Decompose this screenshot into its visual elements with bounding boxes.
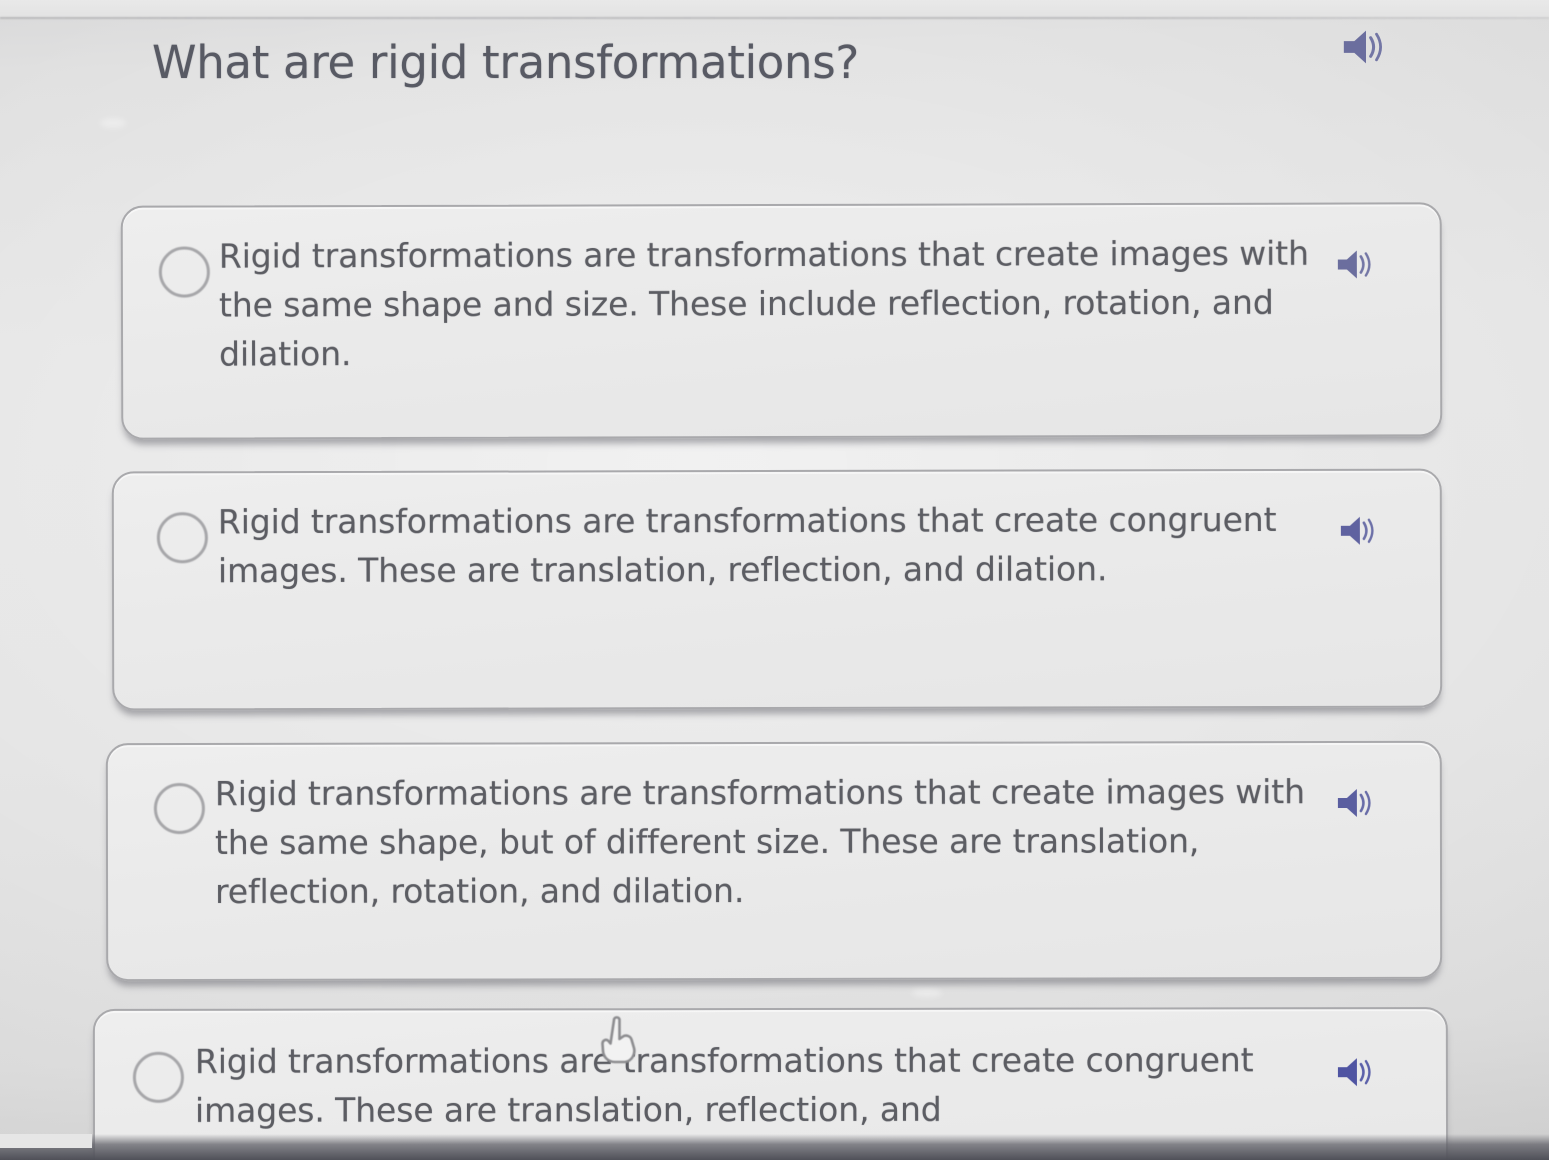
top-seam-line [0, 17, 1549, 19]
radio-button-option-d[interactable] [133, 1052, 184, 1103]
radio-button-option-c[interactable] [154, 783, 205, 834]
speaker-icon[interactable] [1335, 246, 1379, 282]
hand-pointer-cursor [592, 1012, 648, 1070]
radio-button-option-b[interactable] [157, 512, 208, 563]
question-audio-button[interactable] [1340, 26, 1392, 68]
speaker-icon[interactable] [1335, 785, 1379, 821]
speaker-icon[interactable] [1338, 513, 1382, 549]
radio-button-option-a[interactable] [159, 246, 210, 297]
answer-option-c[interactable]: Rigid transformations are transformation… [106, 741, 1442, 981]
answer-option-a-label: Rigid transformations are transformation… [219, 229, 1349, 379]
answer-option-c-label: Rigid transformations are transformation… [215, 767, 1355, 916]
top-edge-band [0, 0, 1549, 17]
speaker-icon[interactable] [1335, 1054, 1379, 1090]
bottom-edge-band [0, 1134, 1549, 1160]
bottom-edge-left-gap [0, 1134, 92, 1148]
answer-option-b[interactable]: Rigid transformations are transformation… [112, 469, 1442, 711]
answer-option-b-label: Rigid transformations are transformation… [218, 495, 1358, 595]
answer-option-d-label: Rigid transformations are transformation… [195, 1035, 1345, 1135]
page-title: What are rigid transformations? [152, 36, 859, 89]
speaker-icon [1340, 26, 1392, 68]
answer-option-a[interactable]: Rigid transformations are transformation… [121, 202, 1443, 439]
